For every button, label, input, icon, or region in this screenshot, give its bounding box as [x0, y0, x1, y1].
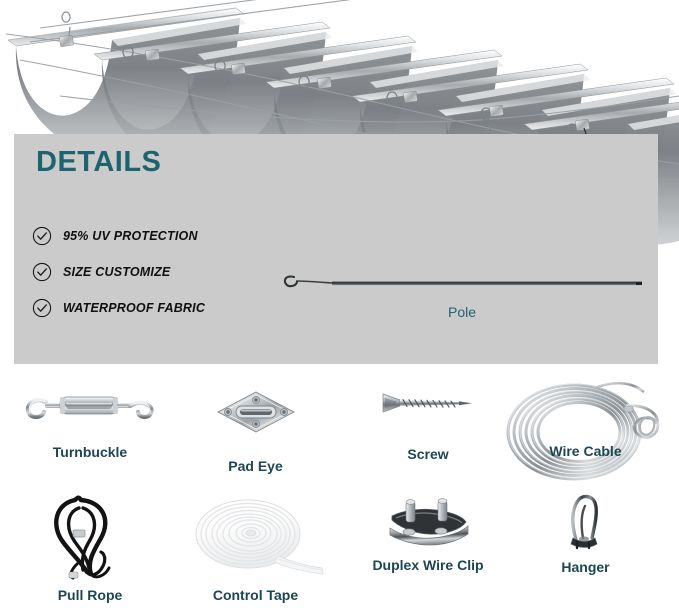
accessory-duplex-wire-clip: Duplex Wire Clip — [345, 492, 511, 572]
accessory-screw: Screw — [345, 386, 511, 461]
accessory-control-tape: Control Tape — [168, 492, 343, 602]
feature-item-size-customize: SIZE CUSTOMIZE — [32, 256, 292, 288]
duplex-wire-clip-icon — [378, 492, 478, 546]
feature-label: SIZE CUSTOMIZE — [63, 265, 170, 279]
screw-icon — [345, 386, 511, 425]
page-title: DETAILS — [36, 146, 161, 179]
turnbuckle-icon — [0, 386, 180, 431]
accessory-label: Hanger — [492, 560, 679, 574]
accessory-pull-rope: Pull Rope — [0, 492, 180, 602]
check-circle-icon — [32, 262, 52, 282]
accessory-label: Screw — [345, 447, 511, 461]
product-infographic: DETAILS 95% UV PROTECTION — [0, 0, 679, 611]
accessory-hanger: Hanger — [492, 492, 679, 574]
control-tape-icon — [186, 492, 326, 578]
accessory-pad-eye: Pad Eye — [168, 386, 343, 473]
accessory-label: Pad Eye — [168, 459, 343, 473]
hanger-icon — [559, 492, 613, 552]
feature-item-waterproof-fabric: WATERPROOF FABRIC — [32, 292, 292, 324]
feature-label: WATERPROOF FABRIC — [63, 301, 205, 315]
pull-rope-icon — [35, 492, 145, 580]
accessory-turnbuckle: Turnbuckle — [0, 386, 180, 459]
accessory-label: Control Tape — [168, 588, 343, 602]
accessory-label: Duplex Wire Clip — [345, 558, 511, 572]
pole-label: Pole — [276, 304, 648, 320]
feature-list: 95% UV PROTECTION SIZE CUSTOMIZE — [32, 220, 292, 328]
pole-figure: Pole — [276, 264, 648, 344]
pole-icon — [276, 287, 648, 304]
accessory-label: Wire Cable — [492, 444, 679, 458]
feature-label: 95% UV PROTECTION — [63, 229, 198, 243]
details-panel: DETAILS 95% UV PROTECTION — [14, 134, 658, 364]
check-circle-icon — [32, 298, 52, 318]
feature-item-uv-protection: 95% UV PROTECTION — [32, 220, 292, 252]
wire-cable-icon — [498, 378, 674, 484]
accessory-label: Turnbuckle — [0, 445, 180, 459]
accessory-wire-cable: Wire Cable — [492, 378, 679, 484]
accessory-label: Pull Rope — [0, 588, 180, 602]
check-circle-icon — [32, 226, 52, 246]
pad-eye-icon — [168, 386, 343, 443]
